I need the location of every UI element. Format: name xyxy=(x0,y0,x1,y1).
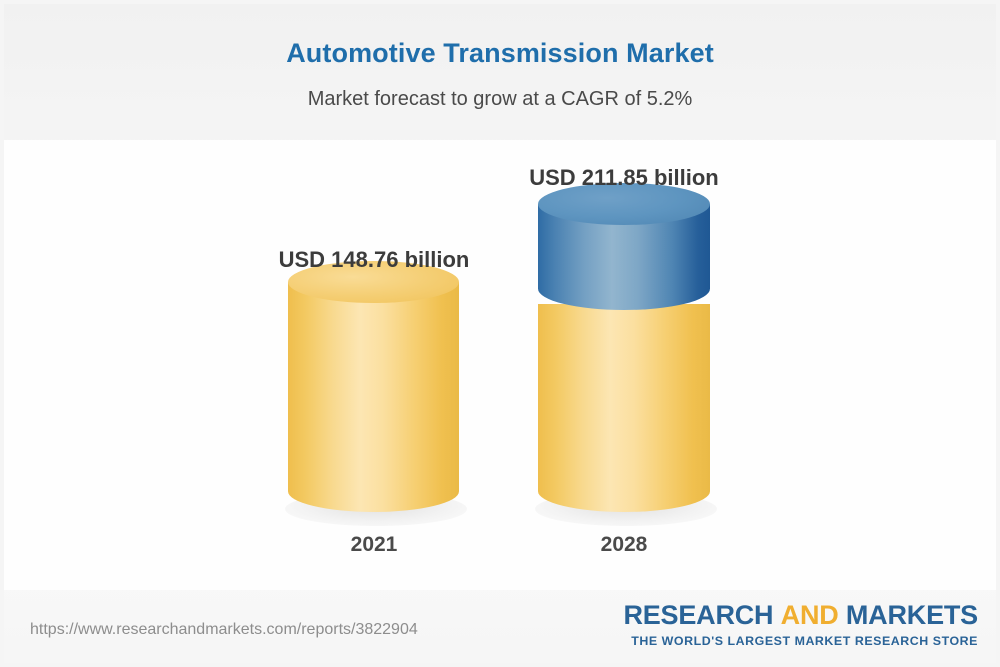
bar-2021 xyxy=(288,282,459,512)
brand-word-markets: MARKETS xyxy=(846,600,978,630)
bar-segment-2028-base xyxy=(538,304,710,512)
chart-subtitle: Market forecast to grow at a CAGR of 5.2… xyxy=(0,88,1000,111)
brand-logo[interactable]: RESEARCH AND MARKETS THE WORLD'S LARGEST… xyxy=(623,602,978,648)
brand-tagline: THE WORLD'S LARGEST MARKET RESEARCH STOR… xyxy=(623,634,978,648)
brand-word-research: RESEARCH xyxy=(623,600,773,630)
source-url-link[interactable]: https://www.researchandmarkets.com/repor… xyxy=(30,621,418,639)
category-label-2021: 2021 xyxy=(248,533,500,557)
page-title: Automotive Transmission Market xyxy=(0,38,1000,69)
data-label-2021: USD 148.76 billion xyxy=(248,247,500,273)
brand-wordmark: RESEARCH AND MARKETS xyxy=(623,602,978,629)
brand-word-and: AND xyxy=(781,600,839,630)
bar-segment-2021-base xyxy=(288,282,459,512)
infographic-canvas: Automotive Transmission Market Market fo… xyxy=(0,0,1000,667)
category-label-2028: 2028 xyxy=(498,533,750,557)
data-label-2028: USD 211.85 billion xyxy=(498,165,750,191)
bar-2028 xyxy=(538,204,710,512)
plot-area-background xyxy=(4,140,996,590)
